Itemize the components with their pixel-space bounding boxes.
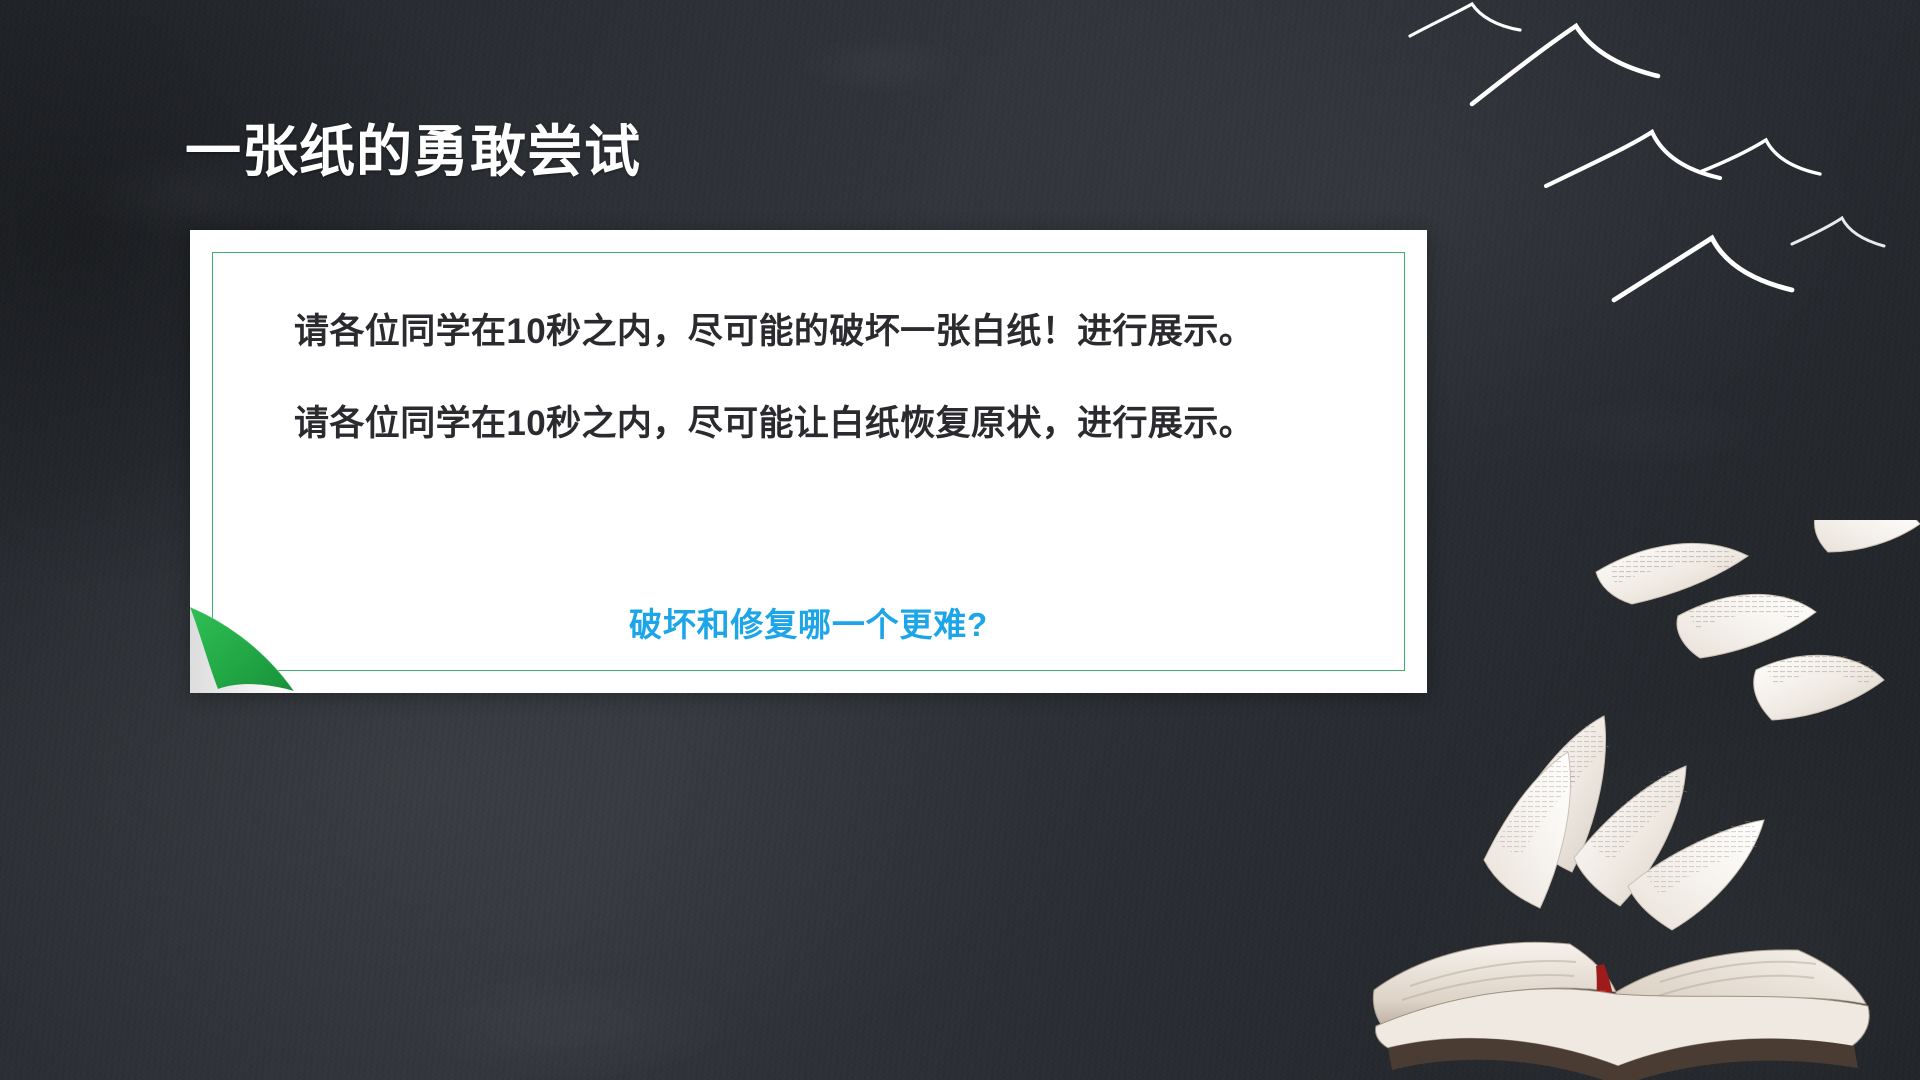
slide-canvas: 一张纸的勇敢尝试 请各位同学在10秒之内，尽可能的破坏一张白纸！进行展示。 请各… [0, 0, 1920, 1080]
body-text-block: 请各位同学在10秒之内，尽可能的破坏一张白纸！进行展示。 请各位同学在10秒之内… [280, 308, 1340, 449]
instruction-paragraph-1: 请各位同学在10秒之内，尽可能的破坏一张白纸！进行展示。 [280, 308, 1340, 356]
instruction-paragraph-2: 请各位同学在10秒之内，尽可能让白纸恢复原状，进行展示。 [280, 400, 1340, 448]
content-card: 请各位同学在10秒之内，尽可能的破坏一张白纸！进行展示。 请各位同学在10秒之内… [190, 230, 1427, 693]
page-title: 一张纸的勇敢尝试 [185, 121, 641, 184]
highlight-question: 破坏和修复哪一个更难? [212, 598, 1405, 646]
